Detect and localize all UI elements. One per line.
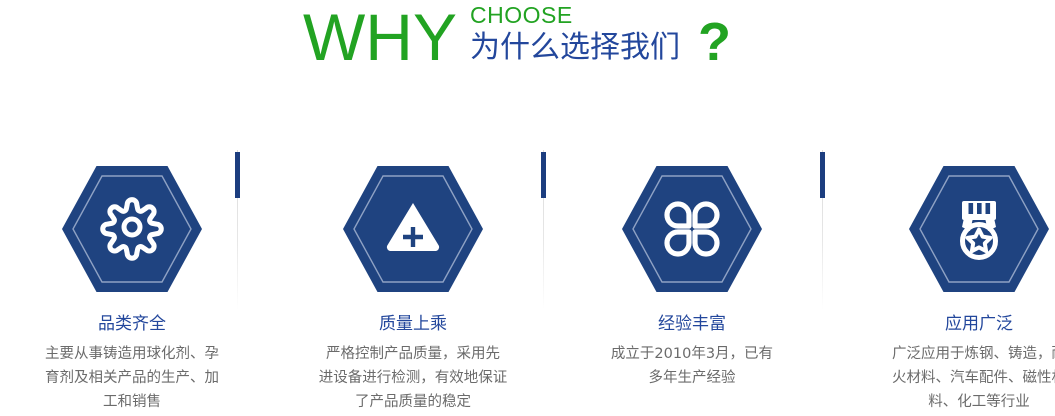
section-header: WHY CHOOSE 为什么选择我们 ? [0,0,1055,95]
feature-column: 品类齐全 主要从事铸造用球化剂、孕 育剂及相关产品的生产、加 工和销售 [0,150,264,416]
medal-icon [908,165,1050,293]
hexagon-badge [621,165,763,293]
header-subtitle-chinese: 为什么选择我们 [470,30,680,66]
hexagon-badge [908,165,1050,293]
feature-title: 品类齐全 [0,313,264,335]
feature-description: 广泛应用于炼钢、铸造，耐 火材料、汽车配件、磁性材 料、化工等行业 [847,342,1055,414]
gear-icon [61,165,203,293]
feature-description: 严格控制产品质量，采用先 进设备进行检测，有效地保证 了产品质量的稳定 [281,342,545,414]
feature-column: 质量上乘 严格控制产品质量，采用先 进设备进行检测，有效地保证 了产品质量的稳定 [281,150,545,416]
header-text-stack: CHOOSE 为什么选择我们 [470,0,680,66]
feature-description: 成立于2010年3月，已有 多年生产经验 [560,342,824,390]
feature-description: 主要从事铸造用球化剂、孕 育剂及相关产品的生产、加 工和销售 [0,342,264,414]
header-title-group: WHY CHOOSE 为什么选择我们 ? [303,0,731,74]
header-choose-text: CHOOSE [470,2,680,28]
header-why-text: WHY [303,0,457,74]
feature-column: 应用广泛 广泛应用于炼钢、铸造，耐 火材料、汽车配件、磁性材 料、化工等行业 [847,150,1055,416]
hexagon-badge [61,165,203,293]
feature-columns: 品类齐全 主要从事铸造用球化剂、孕 育剂及相关产品的生产、加 工和销售 质量上乘… [0,150,1055,416]
feature-title: 质量上乘 [281,313,545,335]
clover-icon [621,165,763,293]
hexagon-badge [342,165,484,293]
feature-title: 应用广泛 [847,313,1055,335]
header-question-mark: ? [698,12,731,72]
feature-column: 经验丰富 成立于2010年3月，已有 多年生产经验 [560,150,824,416]
triangle-plus-icon [342,165,484,293]
feature-title: 经验丰富 [560,313,824,335]
